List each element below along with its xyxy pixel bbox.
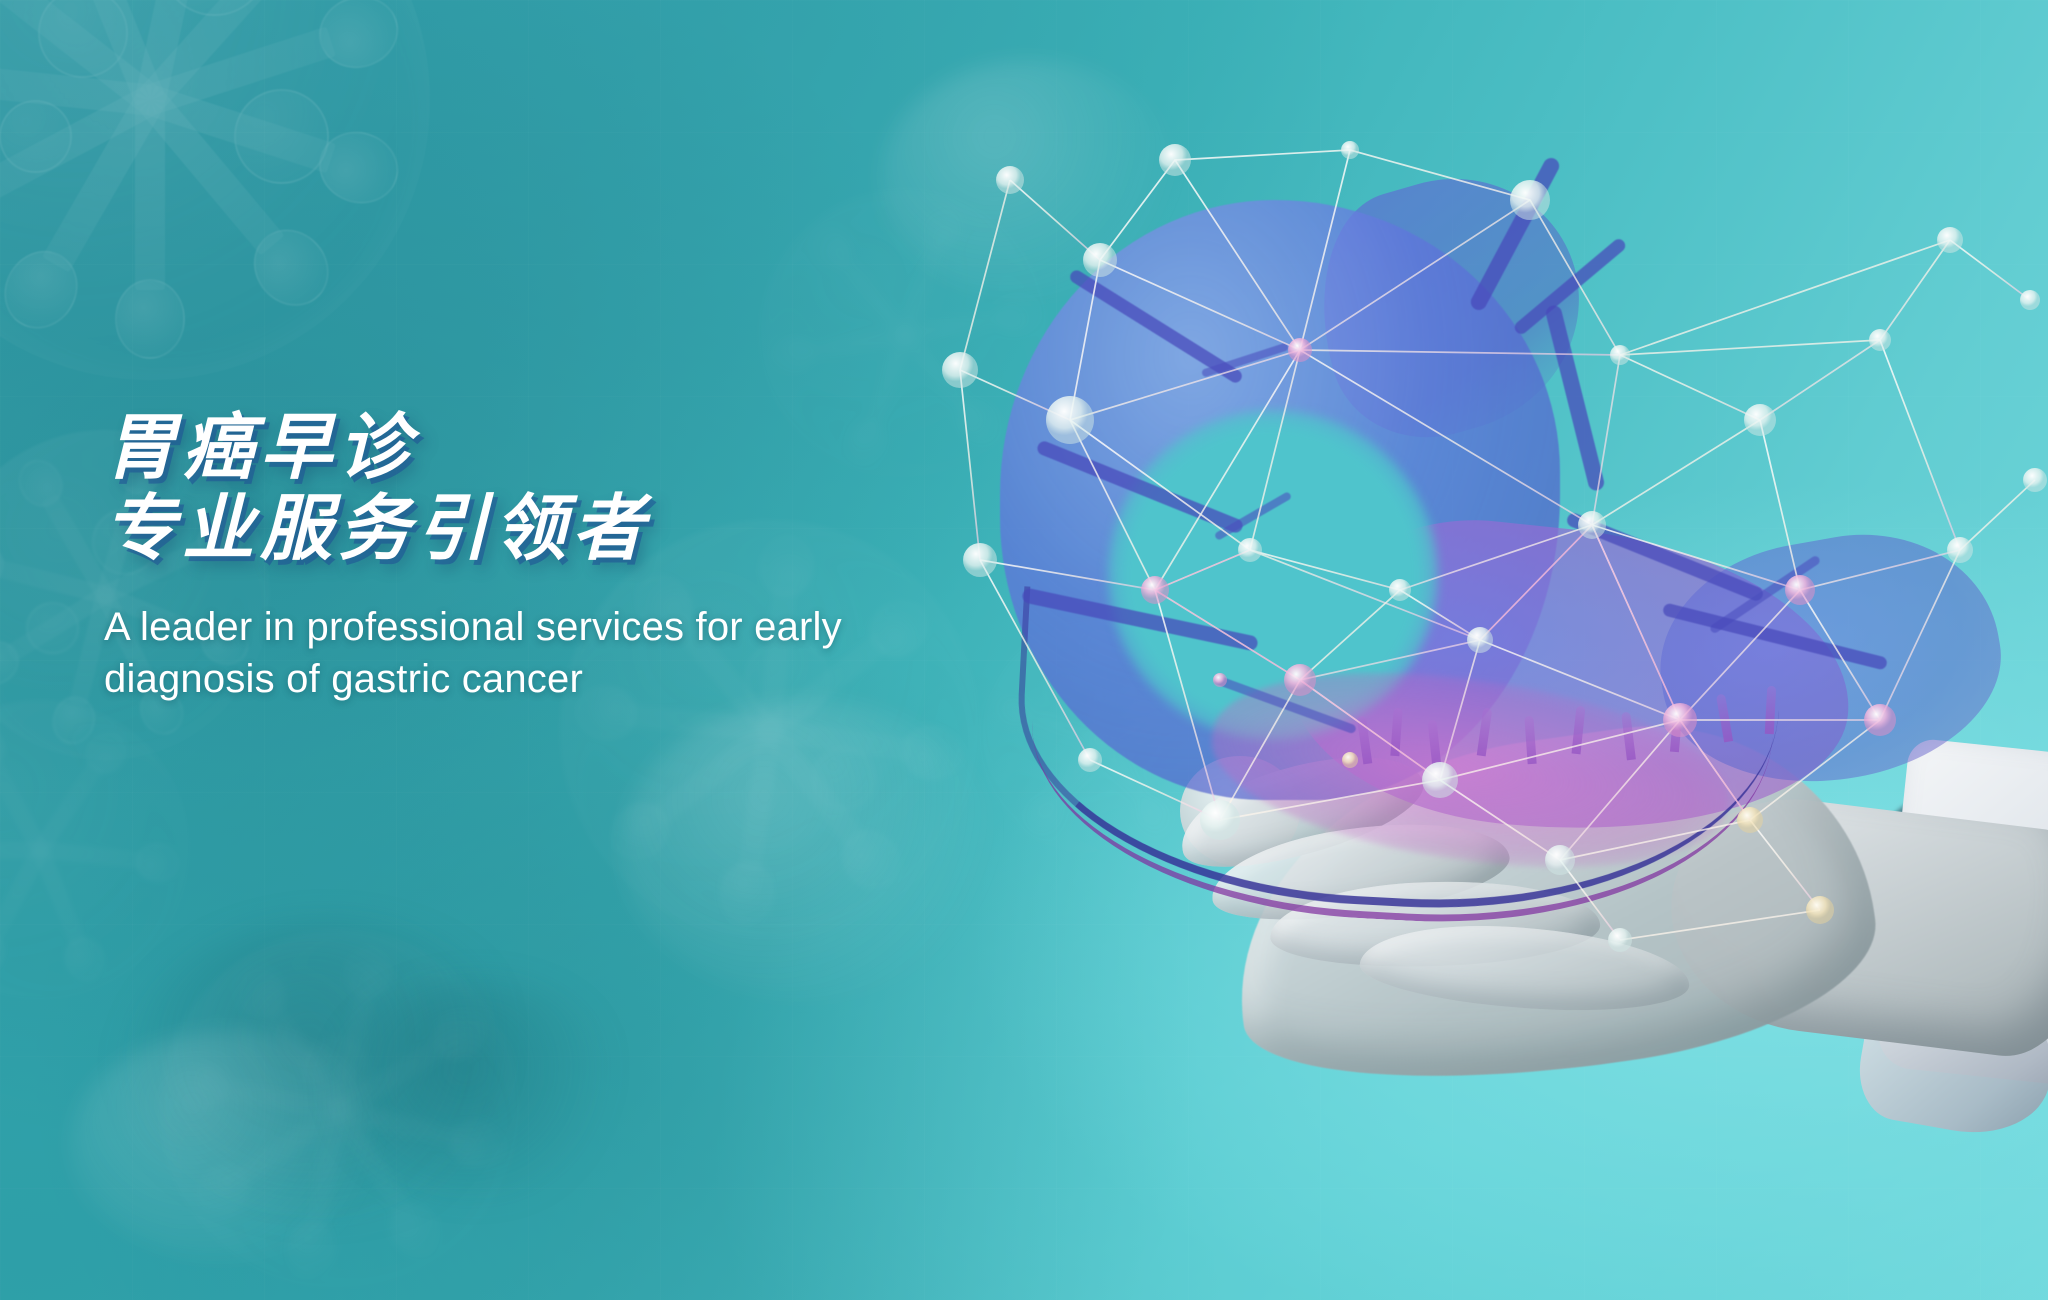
copy-block: 胃癌早诊 专业服务引领者 A leader in professional se… [104, 408, 1124, 705]
virus-motif-icon [160, 930, 520, 1290]
subtitle-line-1: A leader in professional services for ea… [104, 605, 842, 649]
subtitle-line-2: diagnosis of gastric cancer [104, 657, 583, 701]
headline-line-2: 专业服务引领者 [104, 489, 1124, 570]
headline-line-1: 胃癌早诊 [104, 408, 416, 488]
page-title: 胃癌早诊 专业服务引领者 [104, 408, 1124, 571]
virus-motif-icon [0, 0, 430, 380]
banner-root: 胃癌早诊 专业服务引领者 A leader in professional se… [0, 0, 2048, 1300]
virus-motif-icon [0, 700, 190, 1000]
subtitle: A leader in professional services for ea… [104, 601, 894, 705]
